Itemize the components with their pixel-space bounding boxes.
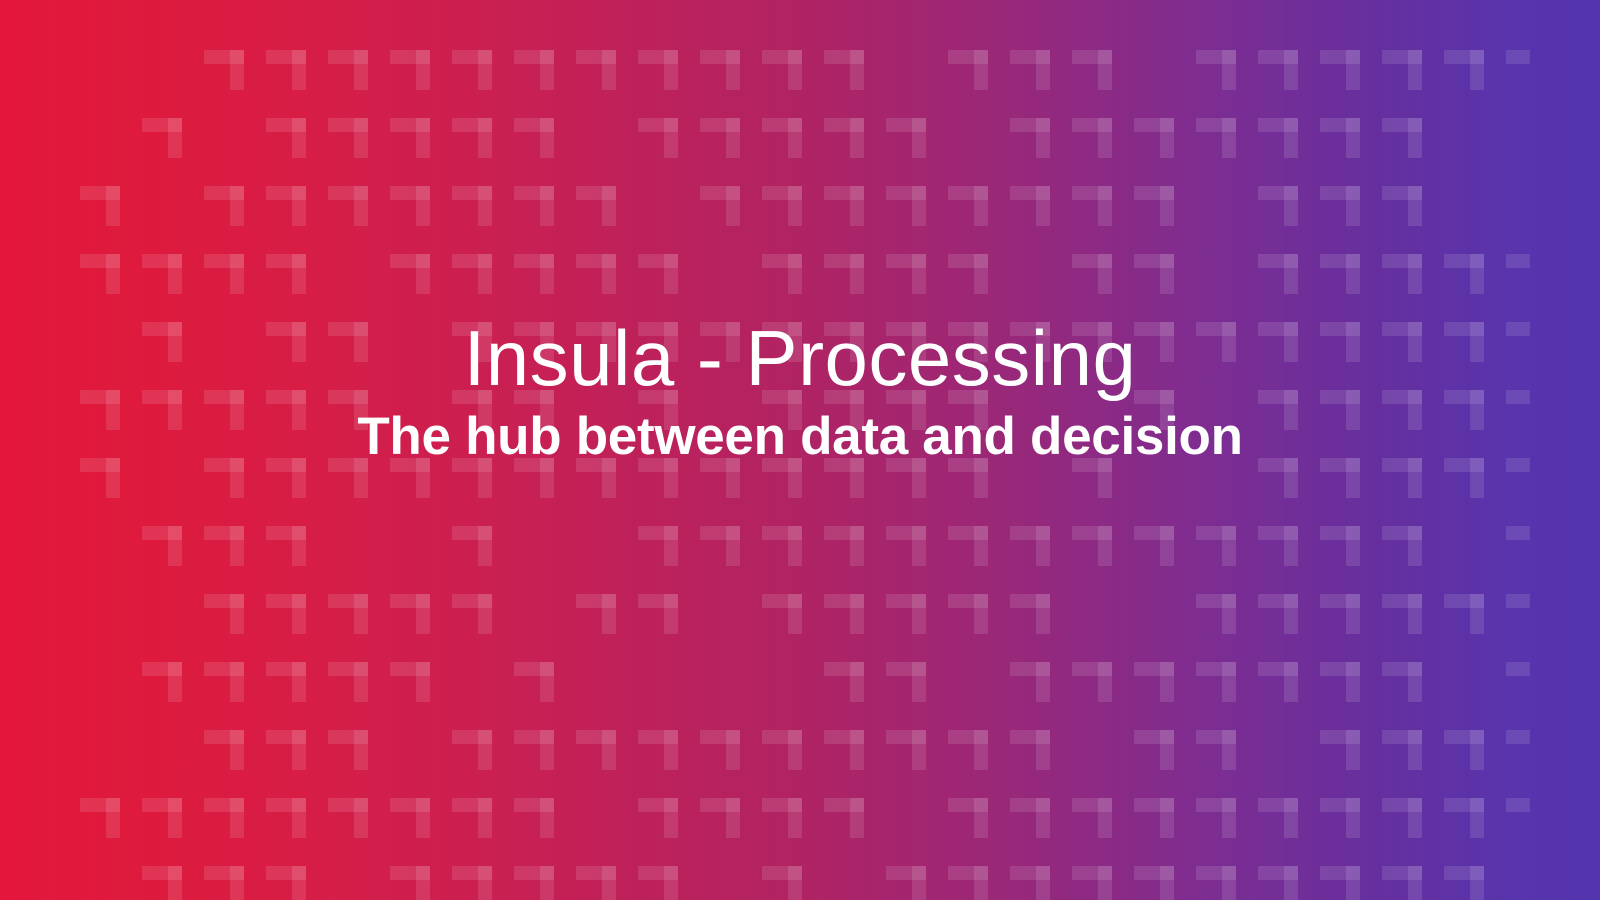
corner-bracket-icon [1072,118,1134,186]
corner-bracket-icon [700,50,762,118]
corner-bracket-icon [824,798,886,866]
corner-bracket-icon [886,662,948,730]
corner-bracket-icon [1320,526,1382,594]
corner-bracket-icon [204,254,266,322]
corner-bracket-icon [1320,186,1382,254]
corner-bracket-icon [948,458,1010,526]
corner-bracket-icon [1506,50,1530,118]
corner-bracket-icon [514,186,576,254]
corner-bracket-icon [1506,594,1530,662]
corner-bracket-icon [1072,662,1134,730]
corner-bracket-icon [1444,458,1506,526]
corner-bracket-icon [886,254,948,322]
corner-bracket-icon [1320,866,1382,900]
corner-bracket-icon [204,594,266,662]
corner-bracket-icon [1506,730,1530,798]
corner-bracket-icon [266,662,328,730]
corner-bracket-icon [1258,458,1320,526]
corner-bracket-icon [824,526,886,594]
corner-bracket-icon [576,594,638,662]
corner-bracket-icon [142,254,204,322]
corner-bracket-icon [576,186,638,254]
corner-bracket-icon [1196,866,1258,900]
corner-bracket-icon [948,730,1010,798]
corner-bracket-icon [1258,526,1320,594]
corner-bracket-icon [1134,730,1196,798]
corner-bracket-icon [1196,594,1258,662]
corner-bracket-icon [1382,866,1444,900]
corner-bracket-icon [1320,50,1382,118]
corner-bracket-icon [1010,186,1072,254]
corner-bracket-icon [1258,254,1320,322]
corner-bracket-icon [948,594,1010,662]
corner-bracket-icon [514,662,576,730]
corner-bracket-icon [328,186,390,254]
corner-bracket-icon [80,458,142,526]
corner-bracket-icon [762,526,824,594]
corner-bracket-icon [1444,798,1506,866]
corner-bracket-icon [1196,118,1258,186]
corner-bracket-icon [762,118,824,186]
corner-bracket-icon [824,730,886,798]
corner-bracket-icon [142,866,204,900]
corner-bracket-icon [948,186,1010,254]
corner-bracket-icon [266,594,328,662]
corner-bracket-icon [762,594,824,662]
corner-bracket-icon [390,866,452,900]
corner-bracket-icon [1320,254,1382,322]
corner-bracket-icon [1072,866,1134,900]
corner-bracket-icon [824,186,886,254]
corner-bracket-icon [1320,458,1382,526]
corner-bracket-icon [1382,254,1444,322]
corner-bracket-icon [886,458,948,526]
corner-bracket-icon [762,50,824,118]
corner-bracket-icon [1196,662,1258,730]
corner-bracket-icon [328,50,390,118]
corner-bracket-icon [390,118,452,186]
corner-bracket-icon [390,50,452,118]
corner-bracket-icon [1258,594,1320,662]
corner-bracket-icon [1320,594,1382,662]
corner-bracket-icon [948,50,1010,118]
corner-bracket-icon [824,594,886,662]
page-title: Insula - Processing [0,316,1600,400]
corner-bracket-icon [638,118,700,186]
corner-bracket-icon [1258,118,1320,186]
corner-bracket-icon [700,526,762,594]
corner-bracket-icon [576,730,638,798]
corner-bracket-icon [328,458,390,526]
corner-bracket-icon [1506,526,1530,594]
corner-bracket-icon [1382,526,1444,594]
corner-bracket-icon [1382,730,1444,798]
title-block: Insula - Processing The hub between data… [0,316,1600,468]
corner-bracket-icon [266,526,328,594]
corner-bracket-icon [762,798,824,866]
corner-bracket-icon [824,254,886,322]
corner-bracket-icon [948,798,1010,866]
corner-bracket-icon [638,458,700,526]
corner-bracket-icon [700,458,762,526]
corner-bracket-icon [514,118,576,186]
corner-bracket-icon [576,458,638,526]
corner-bracket-icon [390,662,452,730]
corner-bracket-icon [452,118,514,186]
corner-bracket-icon [762,458,824,526]
corner-bracket-icon [1444,50,1506,118]
corner-bracket-icon [700,798,762,866]
corner-bracket-icon [1196,50,1258,118]
corner-bracket-icon [1506,458,1530,526]
corner-bracket-icon [514,254,576,322]
corner-bracket-icon [1134,118,1196,186]
corner-bracket-icon [514,798,576,866]
corner-bracket-icon [1010,526,1072,594]
corner-bracket-icon [886,730,948,798]
corner-bracket-icon [1196,526,1258,594]
corner-bracket-icon [762,186,824,254]
corner-bracket-icon [1444,594,1506,662]
corner-bracket-icon [638,798,700,866]
corner-bracket-icon [1134,186,1196,254]
corner-bracket-icon [1258,662,1320,730]
title-slide: Insula - Processing The hub between data… [0,0,1600,900]
corner-bracket-icon [886,866,948,900]
corner-bracket-icon [1072,254,1134,322]
corner-bracket-icon [452,186,514,254]
corner-bracket-icon [1010,662,1072,730]
corner-bracket-icon [638,866,700,900]
corner-bracket-icon [576,254,638,322]
corner-bracket-icon [204,526,266,594]
corner-bracket-icon [1382,798,1444,866]
corner-bracket-icon [204,730,266,798]
corner-bracket-icon [390,798,452,866]
corner-bracket-icon [1444,866,1506,900]
corner-bracket-icon [638,50,700,118]
corner-bracket-icon [700,186,762,254]
corner-bracket-icon [762,730,824,798]
corner-bracket-icon [80,186,142,254]
corner-bracket-icon [638,730,700,798]
corner-bracket-icon [1506,798,1530,866]
corner-bracket-icon [762,254,824,322]
corner-bracket-icon [948,526,1010,594]
corner-bracket-icon [328,730,390,798]
corner-bracket-icon [1072,50,1134,118]
corner-bracket-icon [1320,798,1382,866]
corner-bracket-icon [204,458,266,526]
corner-bracket-icon [266,798,328,866]
corner-bracket-icon [1134,526,1196,594]
page-subtitle: The hub between data and decision [0,406,1600,468]
corner-bracket-icon [638,594,700,662]
corner-bracket-icon [824,118,886,186]
corner-bracket-icon [142,526,204,594]
corner-bracket-icon [700,730,762,798]
corner-bracket-icon [1010,866,1072,900]
corner-bracket-icon [1382,594,1444,662]
corner-bracket-icon [514,866,576,900]
corner-bracket-icon [452,526,514,594]
corner-bracket-icon [204,50,266,118]
corner-bracket-icon [452,254,514,322]
corner-bracket-icon [1258,866,1320,900]
corner-bracket-icon [390,594,452,662]
corner-bracket-icon [948,866,1010,900]
corner-bracket-icon [1072,458,1134,526]
corner-bracket-icon [824,458,886,526]
corner-bracket-icon [328,798,390,866]
corner-bracket-icon [576,50,638,118]
corner-bracket-icon [142,798,204,866]
background-pattern [80,50,1530,900]
corner-bracket-icon [266,730,328,798]
corner-bracket-icon [1382,186,1444,254]
corner-bracket-icon [1258,50,1320,118]
corner-bracket-icon [1010,118,1072,186]
corner-bracket-icon [142,118,204,186]
corner-bracket-icon [204,186,266,254]
corner-bracket-icon [452,798,514,866]
corner-bracket-icon [452,730,514,798]
corner-bracket-icon [1506,662,1530,730]
corner-bracket-icon [886,186,948,254]
corner-bracket-icon [1010,730,1072,798]
corner-bracket-icon [1320,730,1382,798]
corner-bracket-icon [514,730,576,798]
corner-bracket-icon [266,50,328,118]
corner-bracket-icon [1382,50,1444,118]
corner-bracket-icon [328,662,390,730]
corner-bracket-icon [638,254,700,322]
corner-bracket-icon [1320,662,1382,730]
corner-bracket-icon [266,254,328,322]
corner-bracket-icon [80,798,142,866]
corner-bracket-icon [1382,118,1444,186]
corner-bracket-icon [1258,186,1320,254]
corner-bracket-icon [1010,50,1072,118]
corner-bracket-icon [1134,798,1196,866]
corner-bracket-icon [948,254,1010,322]
corner-bracket-icon [266,458,328,526]
corner-bracket-icon [1382,458,1444,526]
corner-bracket-icon [266,186,328,254]
corner-bracket-icon [886,594,948,662]
corner-bracket-icon [1506,254,1530,322]
corner-bracket-icon [576,866,638,900]
corner-bracket-icon [1444,730,1506,798]
corner-bracket-icon [1010,594,1072,662]
corner-bracket-icon [886,118,948,186]
corner-bracket-icon [80,254,142,322]
corner-bracket-icon [204,798,266,866]
corner-bracket-icon [1320,118,1382,186]
corner-bracket-icon [1196,730,1258,798]
corner-bracket-icon [390,186,452,254]
corner-bracket-icon [1196,798,1258,866]
corner-bracket-icon [886,526,948,594]
corner-bracket-icon [824,662,886,730]
corner-bracket-icon [328,118,390,186]
corner-bracket-icon [514,50,576,118]
corner-bracket-icon [328,594,390,662]
corner-bracket-icon [452,458,514,526]
corner-bracket-icon [1072,186,1134,254]
corner-bracket-icon [1134,662,1196,730]
corner-bracket-icon [1072,798,1134,866]
corner-bracket-icon [762,866,824,900]
corner-bracket-icon [1072,526,1134,594]
corner-bracket-icon [390,254,452,322]
corner-bracket-icon [452,50,514,118]
corner-bracket-icon [1444,254,1506,322]
corner-bracket-icon [1382,662,1444,730]
corner-bracket-icon [452,866,514,900]
corner-bracket-icon [204,662,266,730]
corner-bracket-icon [204,866,266,900]
corner-bracket-icon [700,118,762,186]
corner-bracket-icon [1010,798,1072,866]
corner-bracket-icon [1134,866,1196,900]
corner-bracket-icon [1258,798,1320,866]
corner-bracket-icon [266,118,328,186]
corner-bracket-icon [824,50,886,118]
corner-bracket-icon [390,458,452,526]
corner-bracket-icon [452,594,514,662]
corner-bracket-icon [266,866,328,900]
corner-bracket-icon [1134,254,1196,322]
corner-bracket-icon [638,526,700,594]
corner-bracket-icon [142,662,204,730]
corner-bracket-icon [514,458,576,526]
